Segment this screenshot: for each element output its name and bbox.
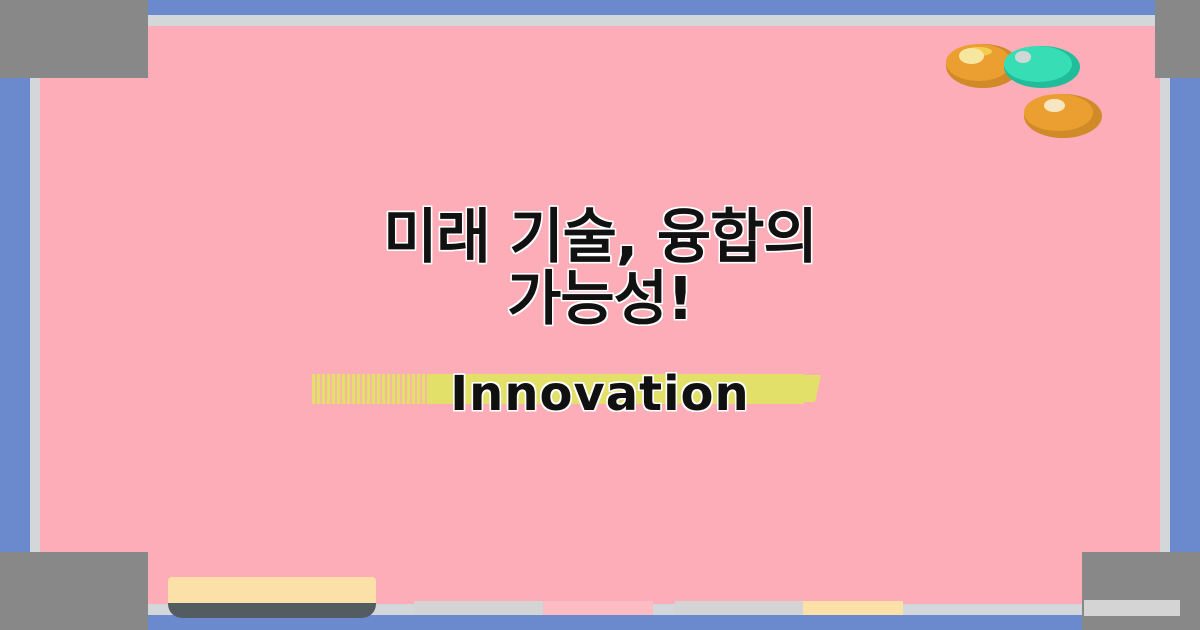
cream-bar-2 xyxy=(803,601,903,615)
gray-bar-2 xyxy=(675,601,803,615)
corner-block-top-right xyxy=(1155,0,1200,78)
pink-bar xyxy=(543,601,653,615)
page-subtitle: Innovation xyxy=(0,366,1200,422)
corner-block-top-left xyxy=(0,0,148,78)
headline-container: 미래 기술, 융합의 가능성! xyxy=(0,206,1200,330)
teal-blob-body xyxy=(1004,46,1072,82)
thumbnail-stage: 미래 기술, 융합의 가능성! Innovation xyxy=(0,0,1200,630)
orange-blob-secondary-icon xyxy=(1024,94,1102,138)
teal-blob-icon xyxy=(1004,46,1080,88)
corner-block-bottom-left xyxy=(0,552,148,630)
gray-bar-1 xyxy=(414,601,543,615)
gray-bar-3 xyxy=(1084,600,1180,616)
cream-bar xyxy=(168,577,376,603)
cream-bar-shadow xyxy=(168,601,376,618)
teal-blob-highlight xyxy=(1015,51,1032,63)
subtitle-container: Innovation xyxy=(0,366,1200,428)
corner-block-bottom-right xyxy=(1082,552,1200,630)
page-title: 미래 기술, 융합의 가능성! xyxy=(0,206,1200,330)
